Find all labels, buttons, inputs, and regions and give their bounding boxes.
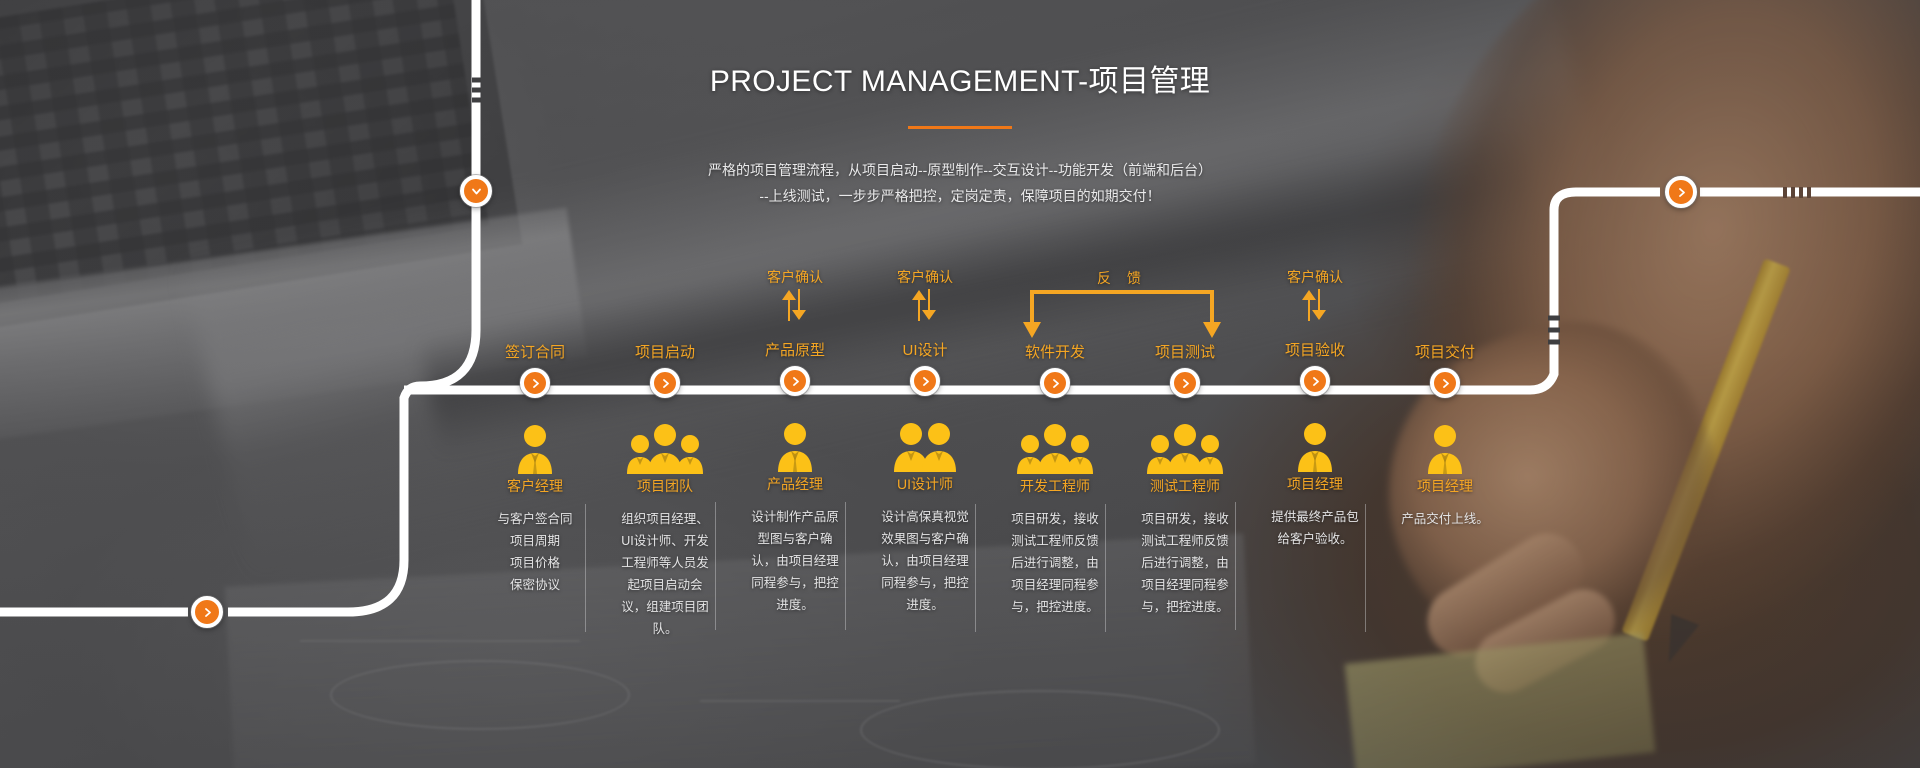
timeline-step[interactable]: 项目启动 项目团队组织项目经理、UI设计师、开发工程师等人员发起项目启动会议，组… (600, 268, 730, 640)
single-person-icon (1292, 420, 1338, 472)
role-icon-wrap (470, 416, 600, 474)
role-icon-wrap (1120, 416, 1250, 474)
timeline-step[interactable]: 项目测试 测试工程师项目研发，接收测试工程师反馈后进行调整，由项目经理同程参与，… (1120, 268, 1250, 640)
step-annotation (1120, 270, 1250, 342)
annotation-label: 客户确认 (1250, 268, 1380, 286)
annotation-label: 客户确认 (860, 268, 990, 286)
annotation-arrows (860, 288, 990, 322)
subtitle-line-1: 严格的项目管理流程，从项目启动--原型制作--交互设计--功能开发（前端和后台） (0, 157, 1920, 183)
two-people-icon (893, 420, 957, 472)
step-name: 项目启动 (600, 342, 730, 364)
step-node-row (600, 364, 730, 406)
chevron-right-icon (659, 377, 672, 390)
role-name: 产品经理 (730, 472, 860, 496)
chevron-right-icon (1179, 377, 1192, 390)
chevron-right-icon (1309, 375, 1322, 388)
step-node[interactable] (1170, 368, 1200, 398)
annotation-label: 客户确认 (730, 268, 860, 286)
step-name: 签订合同 (470, 342, 600, 364)
three-people-icon (626, 422, 704, 474)
role-icon-wrap (990, 416, 1120, 474)
single-person-icon (512, 422, 558, 474)
page-title: PROJECT MANAGEMENT-项目管理 (0, 56, 1920, 100)
step-description: 提供最终产品包给客户验收。 (1267, 506, 1363, 638)
role-name: 项目团队 (600, 474, 730, 498)
timeline-step[interactable]: 软件开发 开发工程师项目研发，接收测试工程师反馈后进行调整，由项目经理同程参与，… (990, 268, 1120, 640)
header: PROJECT MANAGEMENT-项目管理 严格的项目管理流程，从项目启动-… (0, 56, 1920, 209)
timeline-step[interactable]: 签订合同 客户经理与客户签合同 项目周期 项目价格 保密协议 (470, 268, 600, 640)
chevron-right-icon (1439, 377, 1452, 390)
step-description: 设计高保真视觉效果图与客户确认，由项目经理同程参与，把控进度。 (877, 506, 973, 638)
step-annotation (470, 270, 600, 342)
step-name: 项目交付 (1380, 342, 1510, 364)
step-description: 设计制作产品原型图与客户确认，由项目经理同程参与，把控进度。 (747, 506, 843, 638)
step-node-row (1250, 362, 1380, 404)
up-down-arrow-icon (1298, 288, 1332, 322)
three-people-icon (1016, 422, 1094, 474)
role-icon-wrap (1380, 416, 1510, 474)
role-icon-wrap (860, 414, 990, 472)
step-description: 项目研发，接收测试工程师反馈后进行调整，由项目经理同程参与，把控进度。 (1137, 508, 1233, 640)
timeline-step[interactable]: 客户确认 产品原型 产品经理设计制作产品原型图与客户确认，由项目经理同程参与，把… (730, 268, 860, 640)
timeline-step[interactable]: 客户确认 项目验收 项目经理提供最终产品包给客户验收。 (1250, 268, 1380, 640)
path-node-bottom-left[interactable] (191, 596, 223, 628)
role-icon-wrap (730, 414, 860, 472)
up-down-arrow-icon (778, 288, 812, 322)
chevron-right-icon (529, 377, 542, 390)
step-description: 与客户签合同 项目周期 项目价格 保密协议 (487, 508, 583, 640)
step-node[interactable] (1300, 366, 1330, 396)
step-node-row (860, 362, 990, 404)
step-node-row (990, 364, 1120, 406)
step-node[interactable] (1430, 368, 1460, 398)
step-node-row (470, 364, 600, 406)
step-description: 产品交付上线。 (1397, 508, 1493, 640)
step-node[interactable] (520, 368, 550, 398)
title-underline (908, 126, 1012, 129)
subtitle-line-2: --上线测试，一步步严格把控，定岗定责，保障项目的如期交付！ (0, 183, 1920, 209)
role-name: 项目经理 (1380, 474, 1510, 498)
step-annotation (1380, 270, 1510, 342)
step-node[interactable] (910, 366, 940, 396)
step-node[interactable] (1040, 368, 1070, 398)
timeline-steps: 签订合同 客户经理与客户签合同 项目周期 项目价格 保密协议 项目启动 项目团队… (470, 268, 1510, 640)
timeline: 反 馈 签订合同 客户经理与客户签合同 项目周期 项目价格 保密协议 项目启动 (470, 268, 1510, 640)
step-node-row (730, 362, 860, 404)
role-icon-wrap (1250, 414, 1380, 472)
step-annotation: 客户确认 (860, 268, 990, 340)
single-person-icon (772, 420, 818, 472)
step-annotation (600, 270, 730, 342)
role-name: 客户经理 (470, 474, 600, 498)
role-name: 开发工程师 (990, 474, 1120, 498)
up-down-arrow-icon (908, 288, 942, 322)
step-description: 组织项目经理、UI设计师、开发工程师等人员发起项目启动会议，组建项目团队。 (617, 508, 713, 640)
annotation-arrows (1250, 288, 1380, 322)
chevron-right-icon (201, 606, 214, 619)
step-description: 项目研发，接收测试工程师反馈后进行调整，由项目经理同程参与，把控进度。 (1007, 508, 1103, 640)
step-node[interactable] (650, 368, 680, 398)
chevron-right-icon (1049, 377, 1062, 390)
slide-stage: PROJECT MANAGEMENT-项目管理 严格的项目管理流程，从项目启动-… (0, 0, 1920, 768)
timeline-step[interactable]: 客户确认 UI设计 UI设计师设计高保真视觉效果图与客户确认，由项目经理同程参与… (860, 268, 990, 640)
step-name: UI设计 (860, 340, 990, 362)
step-node[interactable] (780, 366, 810, 396)
timeline-step[interactable]: 项目交付 项目经理产品交付上线。 (1380, 268, 1510, 640)
step-name: 项目验收 (1250, 340, 1380, 362)
step-node-row (1120, 364, 1250, 406)
role-name: UI设计师 (860, 472, 990, 496)
chevron-right-icon (789, 375, 802, 388)
single-person-icon (1422, 422, 1468, 474)
step-name: 产品原型 (730, 340, 860, 362)
role-name: 测试工程师 (1120, 474, 1250, 498)
chevron-right-icon (919, 375, 932, 388)
role-icon-wrap (600, 416, 730, 474)
step-name: 项目测试 (1120, 342, 1250, 364)
step-annotation: 客户确认 (1250, 268, 1380, 340)
role-name: 项目经理 (1250, 472, 1380, 496)
step-annotation: 客户确认 (730, 268, 860, 340)
step-annotation (990, 270, 1120, 342)
step-name: 软件开发 (990, 342, 1120, 364)
page-subtitle: 严格的项目管理流程，从项目启动--原型制作--交互设计--功能开发（前端和后台）… (0, 157, 1920, 209)
three-people-icon (1146, 422, 1224, 474)
annotation-arrows (730, 288, 860, 322)
step-node-row (1380, 364, 1510, 406)
